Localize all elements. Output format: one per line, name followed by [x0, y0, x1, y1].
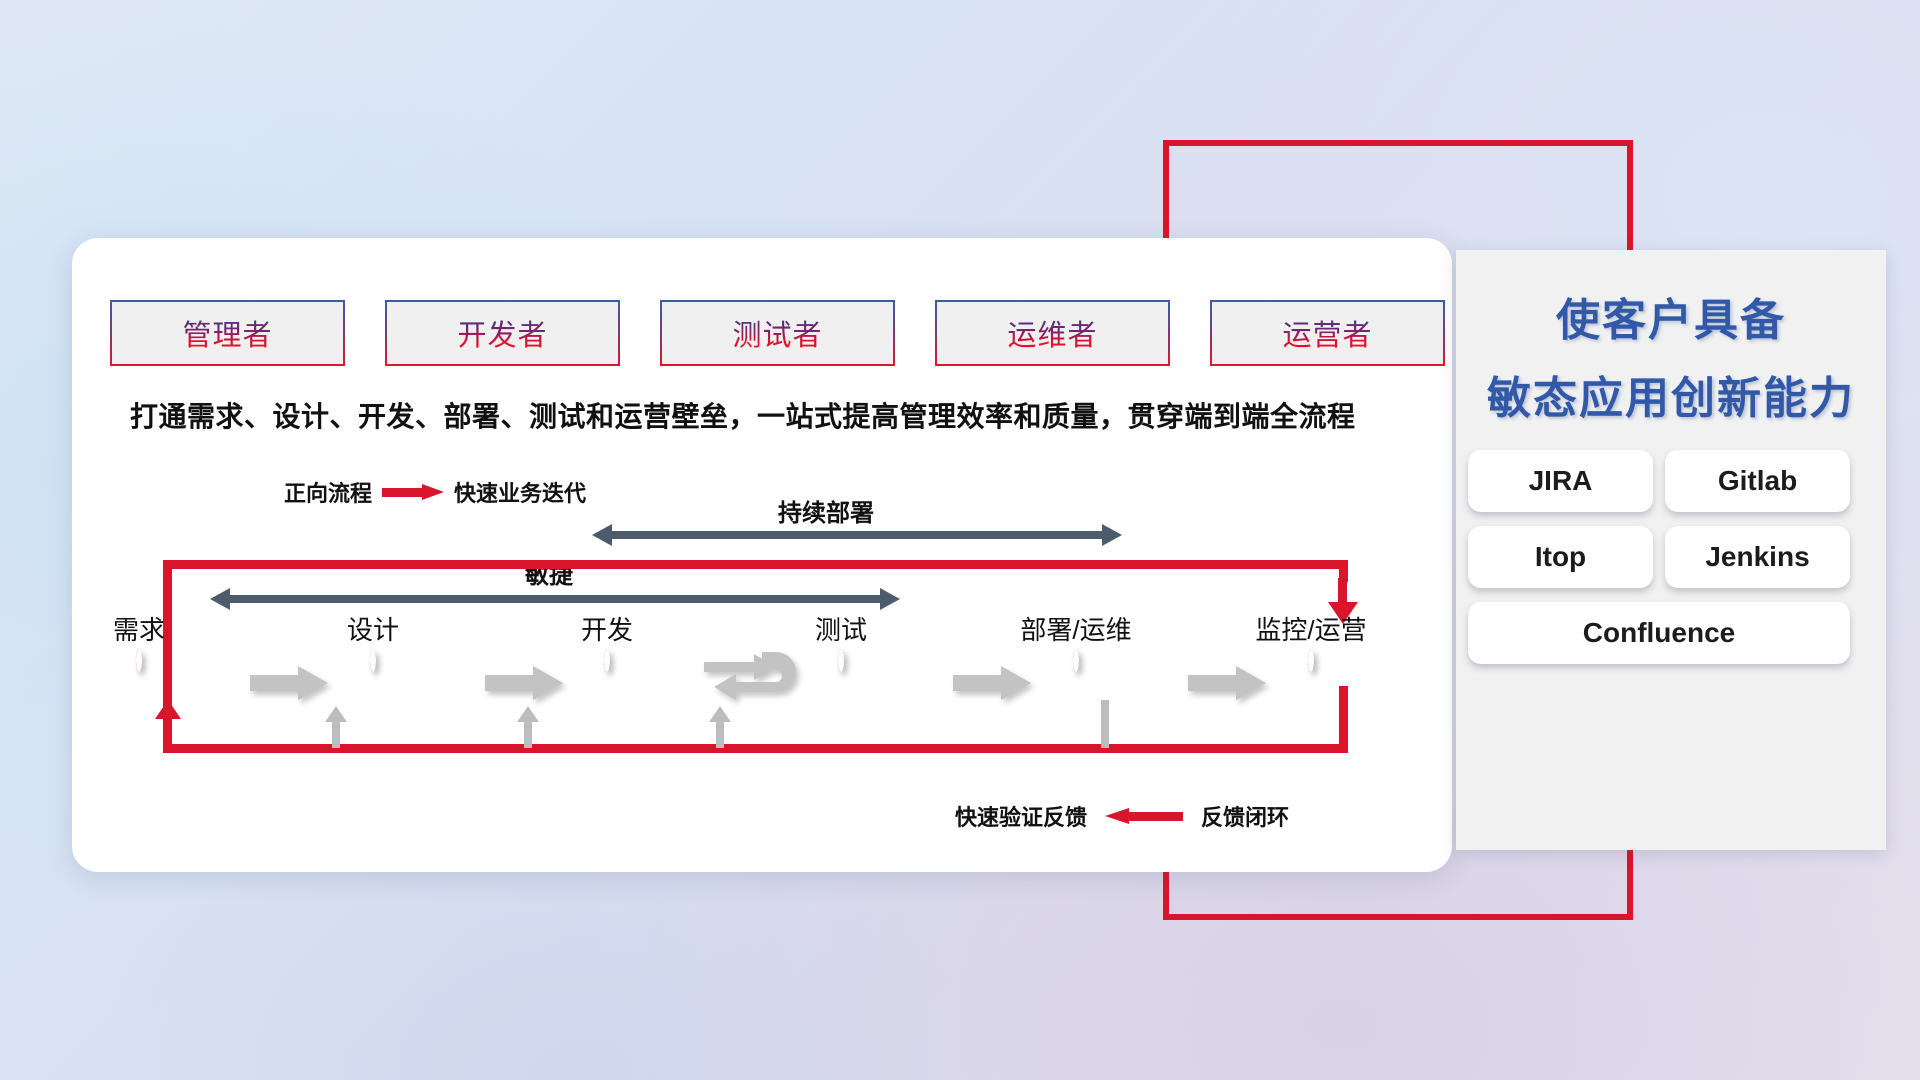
- forward-flow-legend: 正向流程 快速业务迭代: [284, 476, 586, 508]
- tool-chip-gitlab[interactable]: Gitlab: [1665, 450, 1850, 512]
- arrow-up-gray-icon: [325, 706, 347, 748]
- pipeline-node-monitor-operations[interactable]: 监控/运营: [1308, 652, 1314, 670]
- role-box-ops[interactable]: 运维者: [935, 300, 1170, 366]
- pipeline-node-circle-icon: [370, 649, 376, 672]
- pipeline-node-circle-icon: [1073, 649, 1079, 672]
- pipeline-node-deploy-ops[interactable]: 部署/运维: [1073, 652, 1079, 670]
- arrow-loop-ci-icon: [702, 648, 800, 722]
- arrow-right-gray-icon: [485, 666, 563, 700]
- pipeline-node-label: 监控/运营: [1255, 610, 1366, 647]
- arrow-right-gray-icon: [953, 666, 1031, 700]
- description-text: 打通需求、设计、开发、部署、测试和运营壁垒，一站式提高管理效率和质量，贯穿端到端…: [130, 395, 1430, 435]
- red-frame-left-bottom-stub: [1163, 868, 1169, 920]
- pipeline-node-label: 部署/运维: [1020, 610, 1131, 647]
- red-loop-top-rail: [163, 560, 1348, 569]
- pipeline-node-label: 开发: [581, 610, 633, 647]
- value-panel: 使客户具备 敏态应用创新能力 JIRA Gitlab Itop Jenkins …: [1456, 250, 1886, 850]
- role-label: 测试者: [732, 312, 822, 354]
- role-label: 管理者: [182, 312, 272, 354]
- role-box-developer[interactable]: 开发者: [385, 300, 620, 366]
- tool-chip-jenkins[interactable]: Jenkins: [1665, 526, 1850, 588]
- role-label: 运营者: [1282, 312, 1372, 354]
- forward-flow-target-label: 快速业务迭代: [454, 476, 586, 508]
- tool-chip-group: JIRA Gitlab Itop Jenkins Confluence: [1468, 450, 1874, 664]
- feedback-source-label: 反馈闭环: [1201, 800, 1289, 832]
- feedback-target-label: 快速验证反馈: [955, 800, 1087, 832]
- pipeline-node-label: 测试: [815, 610, 867, 647]
- stem-gray-deploy: [1101, 700, 1109, 748]
- role-label: 开发者: [457, 312, 547, 354]
- value-panel-title-line1: 使客户具备: [1456, 284, 1886, 348]
- role-box-group: 管理者 开发者 测试者 运维者 运营者: [110, 300, 1445, 366]
- tool-chip-confluence[interactable]: Confluence: [1468, 602, 1850, 664]
- value-panel-title: 使客户具备 敏态应用创新能力: [1456, 284, 1886, 426]
- pipeline-node-label: 设计: [347, 610, 399, 647]
- pipeline-node-circle-icon: [1308, 649, 1314, 672]
- pipeline-node-circle-icon: [136, 649, 142, 672]
- pipeline-node-requirements[interactable]: 需求: [136, 652, 142, 670]
- arrow-up-red-icon: [155, 700, 181, 748]
- role-label: 运维者: [1007, 312, 1097, 354]
- value-panel-title-line2: 敏态应用创新能力: [1456, 362, 1886, 426]
- continuous-deployment-label: 持续部署: [778, 493, 874, 528]
- role-box-tester[interactable]: 测试者: [660, 300, 895, 366]
- arrow-right-gray-icon: [250, 666, 328, 700]
- pipeline-node-development[interactable]: 开发: [604, 652, 610, 670]
- agile-arrow-icon: [210, 588, 900, 610]
- pipeline-node-design[interactable]: 设计: [370, 652, 376, 670]
- forward-flow-source-label: 正向流程: [284, 476, 372, 508]
- arrow-up-gray-icon: [517, 706, 539, 748]
- role-box-operations[interactable]: 运营者: [1210, 300, 1445, 366]
- arrow-right-red-icon: [382, 484, 444, 500]
- role-box-manager[interactable]: 管理者: [110, 300, 345, 366]
- pipeline-node-circle-icon: [604, 649, 610, 672]
- slide-canvas: 管理者 开发者 测试者 运维者 运营者 打通需求、设计、开发、部署、测试和运营壁…: [0, 0, 1920, 1080]
- arrow-right-gray-icon: [1188, 666, 1266, 700]
- feedback-legend: 快速验证反馈 反馈闭环: [955, 800, 1289, 832]
- pipeline-node-label: 需求: [113, 610, 165, 647]
- red-loop-right-lower-rail: [1339, 686, 1348, 748]
- continuous-deployment-arrow-icon: [592, 524, 1122, 546]
- tool-chip-jira[interactable]: JIRA: [1468, 450, 1653, 512]
- arrow-left-red-icon: [1105, 808, 1183, 824]
- tool-chip-itop[interactable]: Itop: [1468, 526, 1653, 588]
- pipeline-node-testing[interactable]: 测试: [838, 652, 844, 670]
- pipeline-node-circle-icon: [838, 649, 844, 672]
